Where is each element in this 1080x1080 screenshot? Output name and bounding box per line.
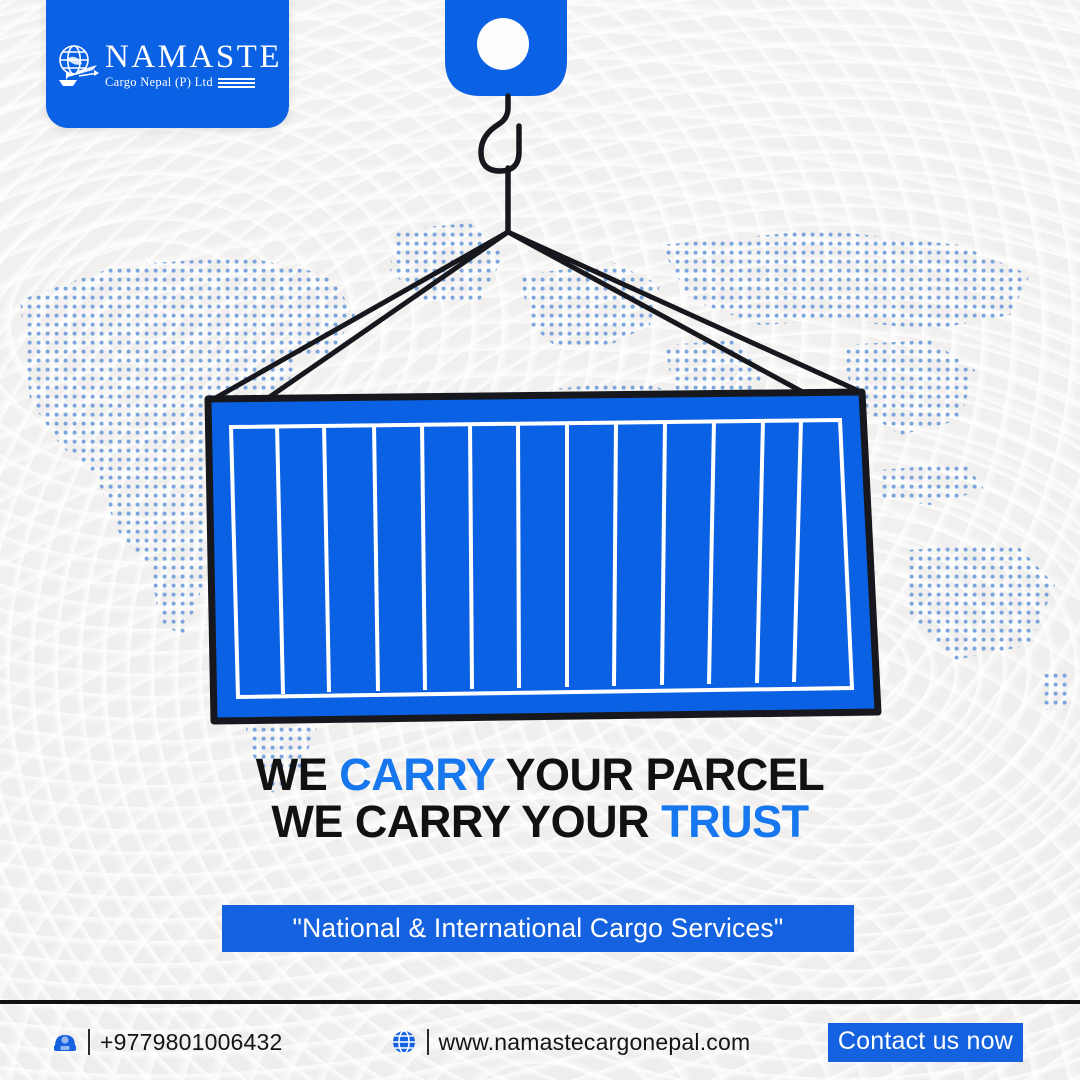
footer-bar: +9779801006432 www.namastecargonepal.com…: [0, 1004, 1080, 1080]
phone-number: +9779801006432: [100, 1029, 283, 1056]
poster-canvas: NAMASTE Cargo Nepal (P) Ltd: [0, 0, 1080, 1080]
headline-line-1: WE CARRY YOUR PARCEL: [0, 752, 1080, 799]
footer-website[interactable]: www.namastecargonepal.com: [391, 1029, 751, 1056]
rigging-cables-icon: [212, 232, 861, 405]
footer-divider-web: [427, 1029, 429, 1055]
shipping-container-illustration: [0, 0, 1080, 760]
footer-phone[interactable]: +9779801006432: [52, 1029, 283, 1056]
contact-us-label: Contact us now: [838, 1027, 1013, 1056]
crane-hook-icon: [481, 96, 519, 232]
headline-line2-part1: WE CARRY YOUR: [271, 796, 661, 847]
headline-line1-accent: CARRY: [339, 749, 494, 800]
crane-hook-tab-icon: [445, 0, 567, 96]
tagline-banner: "National & International Cargo Services…: [222, 905, 854, 952]
telephone-icon: [52, 1029, 78, 1055]
shipping-container-icon: [208, 392, 878, 721]
contact-us-button[interactable]: Contact us now: [828, 1023, 1023, 1062]
footer-divider-phone: [88, 1029, 90, 1055]
tagline-text: "National & International Cargo Services…: [292, 913, 783, 944]
headline-line1-part2: YOUR PARCEL: [494, 749, 824, 800]
globe-icon: [391, 1029, 417, 1055]
headline-line2-accent: TRUST: [661, 796, 809, 847]
headline-line1-part1: WE: [256, 749, 340, 800]
website-url: www.namastecargonepal.com: [439, 1029, 751, 1056]
headline-line-2: WE CARRY YOUR TRUST: [0, 799, 1080, 846]
page-title: WE CARRY YOUR PARCEL WE CARRY YOUR TRUST: [0, 752, 1080, 846]
